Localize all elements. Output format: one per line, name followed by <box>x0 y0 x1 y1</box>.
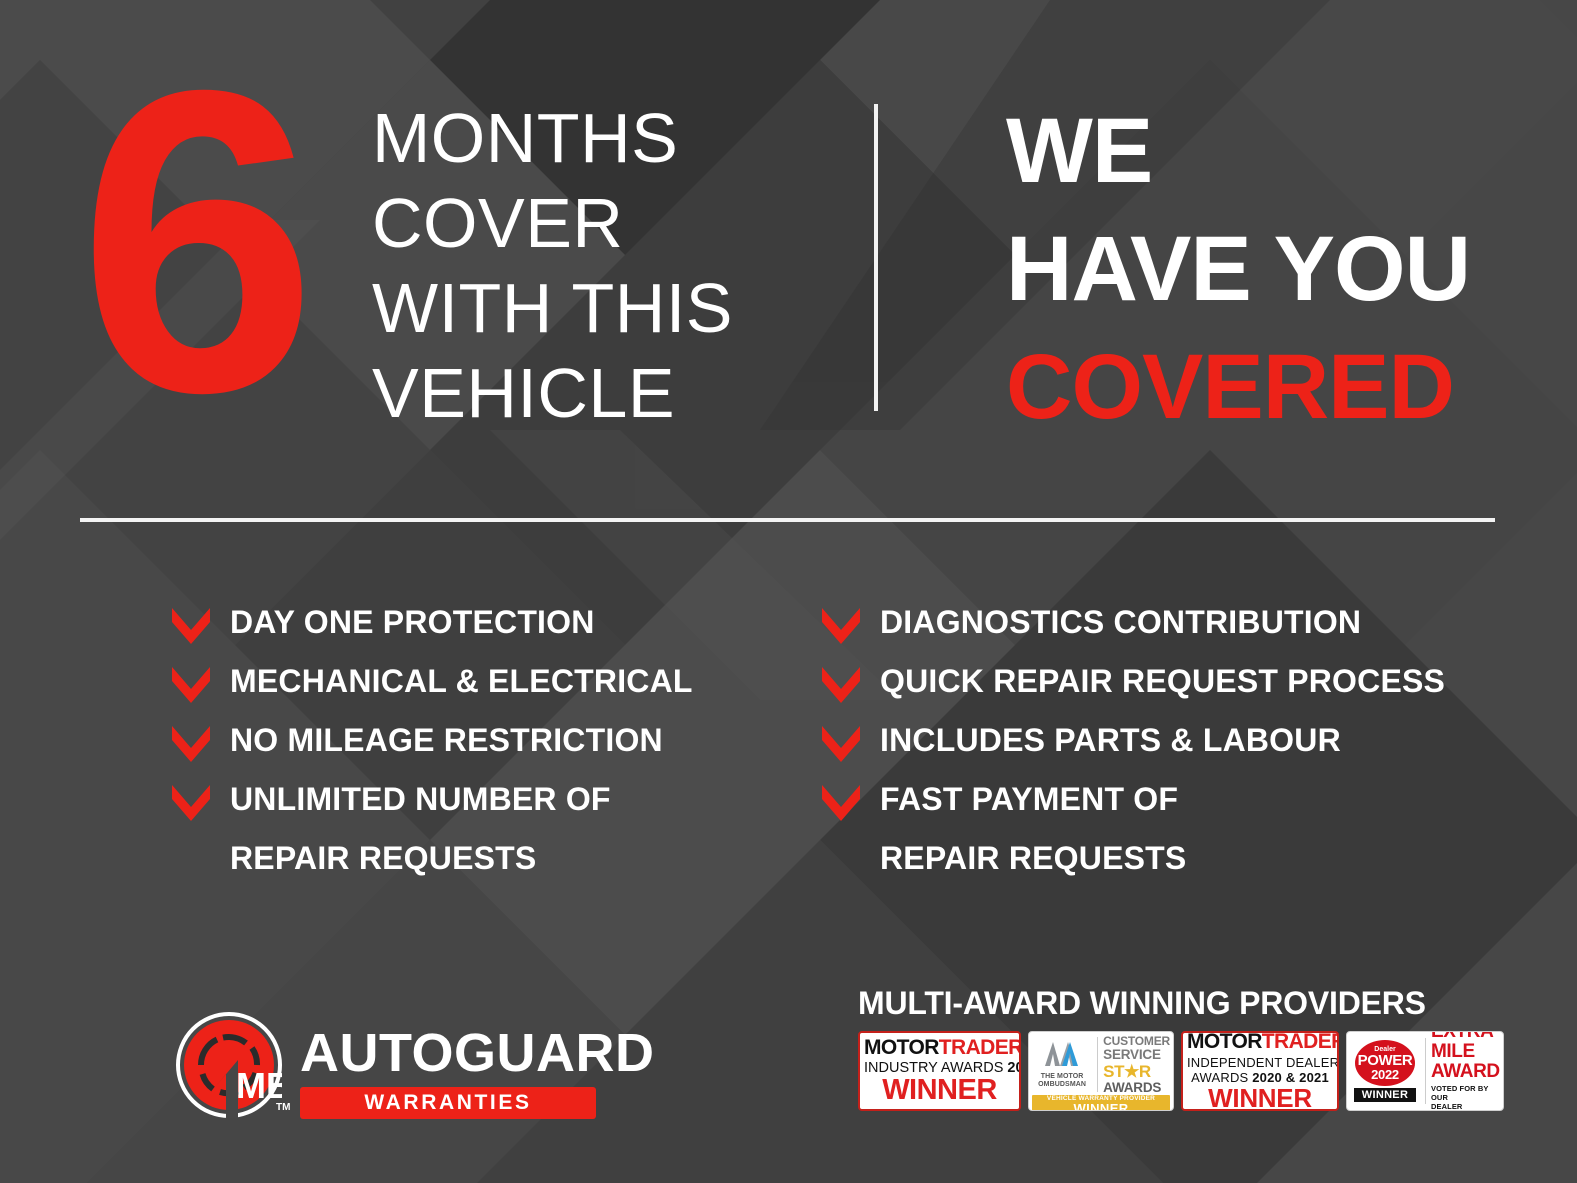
tagline-line-2: HAVE YOU <box>1006 210 1470 328</box>
feature-item-continuation: REPAIR REQUESTS <box>170 834 870 893</box>
horizontal-divider <box>80 518 1495 522</box>
badge1-brand-red: TRADER <box>939 1036 1021 1059</box>
feature-label: REPAIR REQUESTS <box>230 838 536 878</box>
brand-subtitle: WARRANTIES <box>364 1091 531 1115</box>
feature-label: MECHANICAL & ELECTRICAL <box>230 661 693 701</box>
months-line-4: VEHICLE <box>372 351 733 436</box>
checkmark-icon <box>170 665 212 705</box>
months-line-2: COVER <box>372 181 733 266</box>
trademark-symbol: TM <box>276 1102 290 1113</box>
brand-subtitle-bar: WARRANTIES <box>300 1087 596 1119</box>
badge4-circle-year: 2022 <box>1371 1068 1399 1081</box>
badge2-r1: CUSTOMER <box>1103 1035 1170 1047</box>
dealer-power-seal-icon: Dealer POWER 2022 <box>1355 1040 1415 1086</box>
badge4-e3: AWARD <box>1431 1062 1500 1081</box>
feature-item-continuation: REPAIR REQUESTS <box>820 834 1540 893</box>
cover-duration-label: MONTHS COVER WITH THIS VEHICLE <box>372 96 733 436</box>
badge2-ribbon-main: WINNER <box>1073 1102 1128 1111</box>
tagline-line-1: WE <box>1006 92 1470 210</box>
awards-title: MULTI-AWARD WINNING PROVIDERS <box>858 984 1504 1022</box>
checkmark-icon <box>820 606 862 646</box>
badge4-winner-ribbon: WINNER <box>1354 1088 1416 1102</box>
badge-motor-trader-2019: MOTORTRADER INDUSTRY AWARDS 2019 WINNER <box>858 1031 1021 1111</box>
badge1-year: 2019 <box>1007 1060 1021 1076</box>
badge-motor-trader-independent-dealer: MOTORTRADER INDEPENDENT DEALER AWARDS 20… <box>1181 1031 1339 1111</box>
feature-item: INCLUDES PARTS & LABOUR <box>820 716 1540 775</box>
badge4-e4-line2: DEALER PARTNERS <box>1431 1102 1500 1111</box>
feature-item: UNLIMITED NUMBER OF <box>170 775 870 834</box>
badge4-e1: EXTRA <box>1431 1031 1500 1041</box>
feature-label: DAY ONE PROTECTION <box>230 602 595 642</box>
badge2-r4: AWARDS <box>1103 1081 1170 1095</box>
tagline: WE HAVE YOU COVERED <box>1006 92 1470 446</box>
feature-item: NO MILEAGE RESTRICTION <box>170 716 870 775</box>
mbi-logo-icon: MBi <box>176 1012 282 1118</box>
feature-label: REPAIR REQUESTS <box>880 838 1186 878</box>
badge2-r3: ST★R <box>1103 1063 1170 1080</box>
badge2-winner-ribbon: VEHICLE WARRANTY PROVIDER WINNER <box>1032 1095 1170 1111</box>
features-left-column: DAY ONE PROTECTION MECHANICAL & ELECTRIC… <box>170 598 870 893</box>
badge2-r2: SERVICE <box>1103 1048 1170 1062</box>
feature-label: UNLIMITED NUMBER OF <box>230 779 611 819</box>
badge2-org-line2: OMBUDSMAN <box>1032 1081 1092 1089</box>
autoguard-wordmark: AUTOGUARD WARRANTIES <box>300 1026 655 1119</box>
feature-label: INCLUDES PARTS & LABOUR <box>880 720 1341 760</box>
badge1-brand-black: MOTOR <box>864 1036 939 1059</box>
feature-label: QUICK REPAIR REQUEST PROCESS <box>880 661 1445 701</box>
motor-ombudsman-icon <box>1042 1040 1082 1066</box>
feature-label: NO MILEAGE RESTRICTION <box>230 720 663 760</box>
badge-motor-ombudsman-star-awards: THE MOTOR OMBUDSMAN CUSTOMER SERVICE ST★… <box>1028 1031 1174 1111</box>
feature-label: FAST PAYMENT OF <box>880 779 1178 819</box>
feature-label: DIAGNOSTICS CONTRIBUTION <box>880 602 1361 642</box>
checkmark-icon <box>170 783 212 823</box>
feature-item: MECHANICAL & ELECTRICAL <box>170 657 870 716</box>
warranty-promo-poster: 6 MONTHS COVER WITH THIS VEHICLE WE HAVE… <box>0 0 1577 1183</box>
checkmark-icon <box>820 783 862 823</box>
badge3-brand-red: TRADER <box>1262 1031 1339 1053</box>
checkmark-icon <box>170 606 212 646</box>
checkmark-icon <box>170 724 212 764</box>
months-line-3: WITH THIS <box>372 266 733 351</box>
badge3-winner: WINNER <box>1187 1085 1333 1112</box>
badge2-org-line1: THE MOTOR <box>1032 1073 1092 1081</box>
cover-duration-number: 6 <box>78 58 305 428</box>
award-badges: MOTORTRADER INDUSTRY AWARDS 2019 WINNER <box>858 1031 1504 1111</box>
feature-item: DIAGNOSTICS CONTRIBUTION <box>820 598 1540 657</box>
feature-item: FAST PAYMENT OF <box>820 775 1540 834</box>
awards-section: MULTI-AWARD WINNING PROVIDERS MOTORTRADE… <box>858 984 1504 1111</box>
features-right-column: DIAGNOSTICS CONTRIBUTION QUICK REPAIR RE… <box>820 598 1540 893</box>
months-line-1: MONTHS <box>372 96 733 181</box>
feature-item: QUICK REPAIR REQUEST PROCESS <box>820 657 1540 716</box>
badge4-circle-mid: POWER <box>1358 1053 1413 1068</box>
badge4-e2: MILE <box>1431 1042 1500 1061</box>
badge1-winner: WINNER <box>864 1076 1015 1105</box>
feature-item: DAY ONE PROTECTION <box>170 598 870 657</box>
badge4-e4-line1: VOTED FOR BY OUR <box>1431 1084 1500 1102</box>
badge3-brand-black: MOTOR <box>1187 1031 1262 1053</box>
checkmark-icon <box>820 724 862 764</box>
tagline-accent: COVERED <box>1006 328 1470 446</box>
headline-section: 6 MONTHS COVER WITH THIS VEHICLE WE HAVE… <box>0 0 1577 520</box>
checkmark-icon <box>820 665 862 705</box>
badge-dealer-power-extra-mile: Dealer POWER 2022 WINNER EXTRA MILE AWAR… <box>1346 1031 1504 1111</box>
svg-text:MBi: MBi <box>236 1065 282 1106</box>
brand-name: AUTOGUARD <box>300 1026 655 1080</box>
vertical-divider <box>874 104 878 411</box>
badge3-line2: INDEPENDENT DEALER <box>1187 1056 1333 1069</box>
